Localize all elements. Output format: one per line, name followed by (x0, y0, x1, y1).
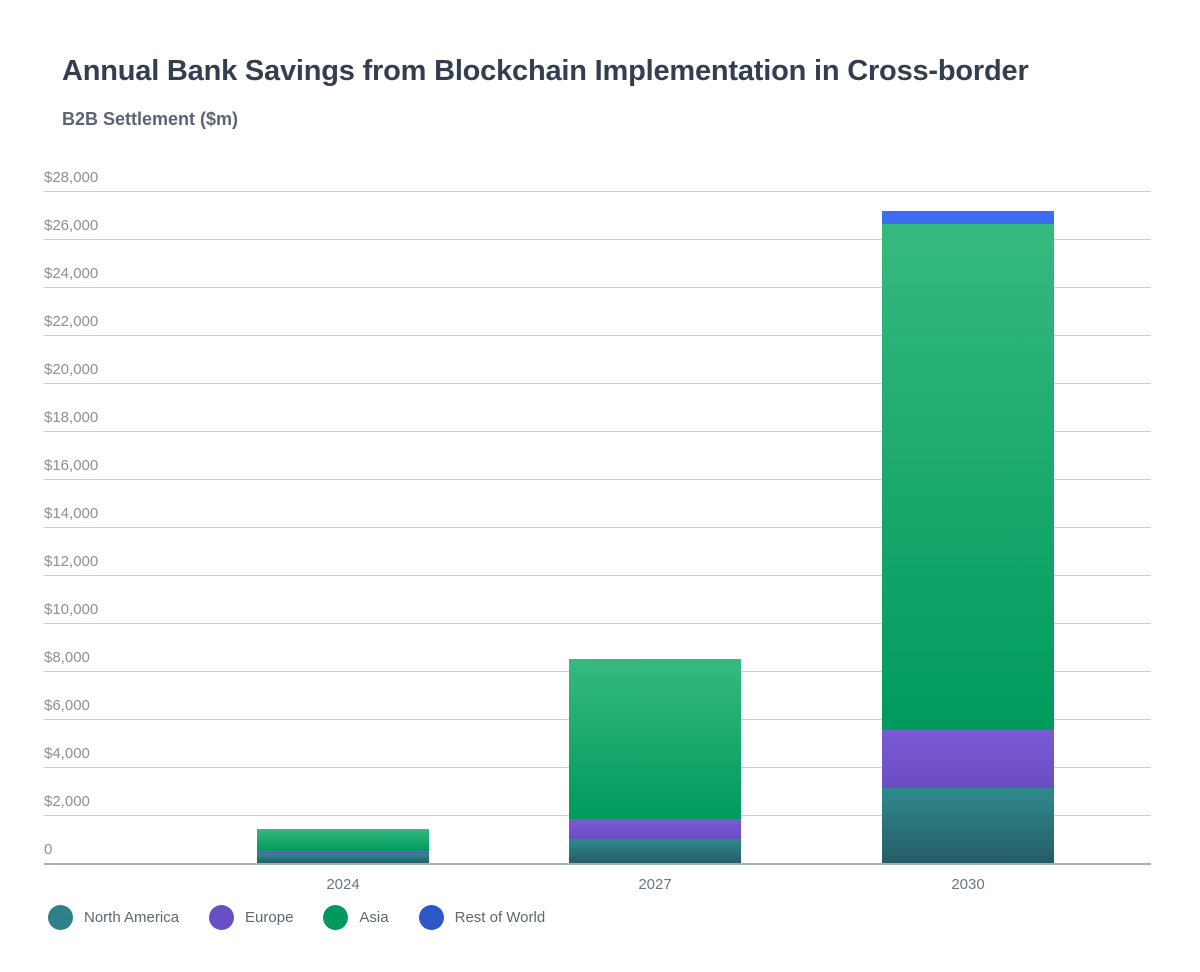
bar-segment-2027-north-america[interactable] (569, 839, 741, 863)
chart-subtitle: B2B Settlement ($m) (62, 106, 238, 132)
chart-legend: North AmericaEuropeAsiaRest of World (48, 905, 575, 930)
x-axis-tick-label-2027: 2027 (555, 876, 755, 894)
bar-segment-2024-asia[interactable] (257, 829, 429, 851)
legend-swatch-icon (48, 905, 73, 930)
legend-label: Rest of World (455, 908, 546, 928)
bar-segment-2024-europe[interactable] (257, 851, 429, 854)
bar-stack-2027[interactable] (569, 659, 741, 863)
bar-segment-2030-rest-of-world[interactable] (882, 211, 1054, 224)
plot-area: $28,000$26,000$24,000$22,000$20,000$18,0… (0, 150, 1200, 870)
bar-segment-2027-europe[interactable] (569, 819, 741, 839)
legend-label: Asia (359, 908, 388, 928)
bar-stack-2024[interactable] (257, 829, 429, 863)
legend-label: Europe (245, 908, 293, 928)
bar-segment-2030-north-america[interactable] (882, 788, 1054, 863)
x-axis-tick-label-2030: 2030 (868, 876, 1068, 894)
legend-item-asia[interactable]: Asia (323, 905, 388, 930)
chart-title: Annual Bank Savings from Blockchain Impl… (62, 50, 1172, 92)
bars-layer (0, 150, 1200, 870)
legend-label: North America (84, 908, 179, 928)
bar-segment-2024-north-america[interactable] (257, 854, 429, 863)
legend-item-north-america[interactable]: North America (48, 905, 179, 930)
legend-swatch-icon (209, 905, 234, 930)
stacked-bar-chart: Annual Bank Savings from Blockchain Impl… (0, 0, 1200, 972)
x-axis-tick-label-2024: 2024 (243, 876, 443, 894)
bar-segment-2030-europe[interactable] (882, 730, 1054, 788)
bar-segment-2027-asia[interactable] (569, 659, 741, 819)
bar-stack-2030[interactable] (882, 211, 1054, 863)
legend-swatch-icon (419, 905, 444, 930)
legend-item-europe[interactable]: Europe (209, 905, 293, 930)
legend-item-rest-of-world[interactable]: Rest of World (419, 905, 546, 930)
legend-swatch-icon (323, 905, 348, 930)
bar-segment-2030-asia[interactable] (882, 224, 1054, 730)
